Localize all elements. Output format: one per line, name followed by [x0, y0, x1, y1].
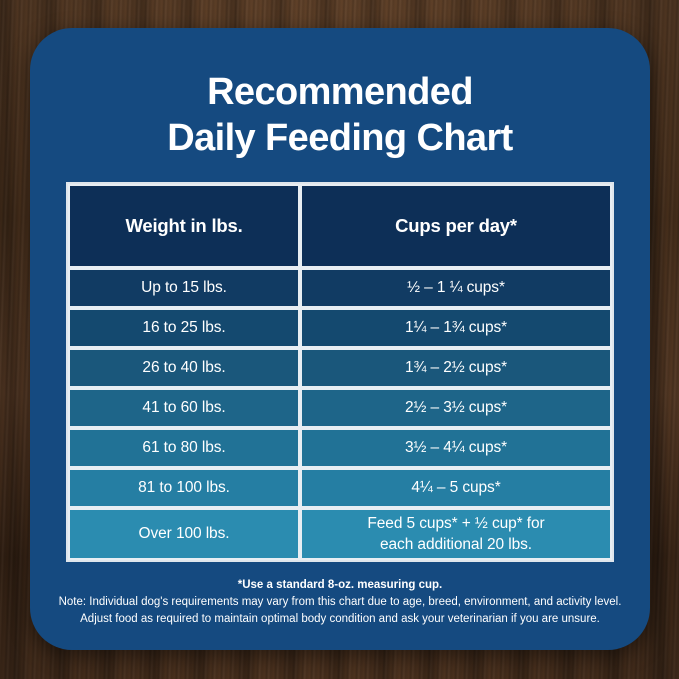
cell-cups: ½ – 1 ¼ cups* — [300, 268, 612, 308]
footnote-block: *Use a standard 8-oz. measuring cup. Not… — [54, 577, 626, 628]
table-body: Up to 15 lbs. ½ – 1 ¼ cups* 16 to 25 lbs… — [68, 268, 612, 560]
table-header-row: Weight in lbs. Cups per day* — [68, 184, 612, 268]
cell-cups: Feed 5 cups* + ½ cup* for each additiona… — [300, 508, 612, 560]
cell-cups: 3½ – 4¼ cups* — [300, 428, 612, 468]
cell-cups-line-2: each additional 20 lbs. — [302, 534, 610, 555]
cell-weight: 41 to 60 lbs. — [68, 388, 300, 428]
table-row: 61 to 80 lbs. 3½ – 4¼ cups* — [68, 428, 612, 468]
page-title-line-1: Recommended — [30, 69, 650, 115]
cell-weight: 61 to 80 lbs. — [68, 428, 300, 468]
cell-cups-line-1: Feed 5 cups* + ½ cup* for — [302, 513, 610, 534]
cell-weight: 16 to 25 lbs. — [68, 308, 300, 348]
table-row: 41 to 60 lbs. 2½ – 3½ cups* — [68, 388, 612, 428]
feeding-chart-card: Recommended Daily Feeding Chart Weight i… — [30, 28, 650, 650]
table-header: Weight in lbs. Cups per day* — [68, 184, 612, 268]
footnote-line-3: Adjust food as required to maintain opti… — [54, 611, 626, 628]
cell-cups: 2½ – 3½ cups* — [300, 388, 612, 428]
table-row: 16 to 25 lbs. 1¼ – 1¾ cups* — [68, 308, 612, 348]
column-header-weight: Weight in lbs. — [68, 184, 300, 268]
cell-cups: 4¼ – 5 cups* — [300, 468, 612, 508]
table-row: Up to 15 lbs. ½ – 1 ¼ cups* — [68, 268, 612, 308]
feeding-chart-table: Weight in lbs. Cups per day* Up to 15 lb… — [66, 182, 614, 562]
table-row: 26 to 40 lbs. 1¾ – 2½ cups* — [68, 348, 612, 388]
table-row: Over 100 lbs. Feed 5 cups* + ½ cup* for … — [68, 508, 612, 560]
cell-weight: Up to 15 lbs. — [68, 268, 300, 308]
cell-weight: 81 to 100 lbs. — [68, 468, 300, 508]
cell-cups: 1¼ – 1¾ cups* — [300, 308, 612, 348]
footnote-line-1: *Use a standard 8-oz. measuring cup. — [54, 577, 626, 594]
page-title-line-2: Daily Feeding Chart — [30, 115, 650, 161]
table-row: 81 to 100 lbs. 4¼ – 5 cups* — [68, 468, 612, 508]
cell-weight: 26 to 40 lbs. — [68, 348, 300, 388]
cell-weight: Over 100 lbs. — [68, 508, 300, 560]
chart-title-block: Recommended Daily Feeding Chart — [30, 28, 650, 161]
column-header-cups: Cups per day* — [300, 184, 612, 268]
cell-cups: 1¾ – 2½ cups* — [300, 348, 612, 388]
footnote-line-2: Note: Individual dog's requirements may … — [54, 594, 626, 611]
